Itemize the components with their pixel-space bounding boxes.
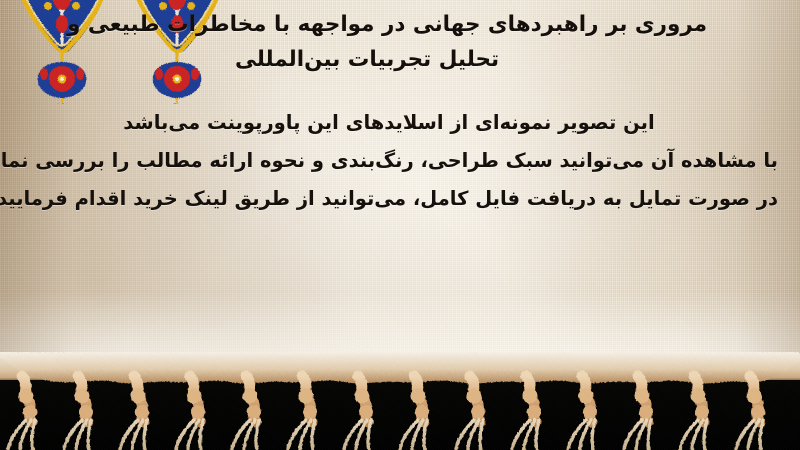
title-line-2: تحلیل تجربیات بین‌المللی	[0, 43, 734, 78]
fringe-tassel	[624, 376, 653, 450]
fringe-tassel	[232, 376, 261, 450]
fringe-tassel	[176, 376, 205, 450]
title-line-1: مروری بر راهبردهای جهانی در مواجهه با مخ…	[0, 8, 774, 43]
fringe-selvage-ridge	[0, 352, 800, 383]
fringe-tassel	[288, 376, 317, 450]
fringe-tassel	[8, 376, 37, 450]
fringe-tassel	[680, 376, 709, 450]
fringe-tassel	[736, 376, 765, 450]
fringe-tassel-group	[8, 376, 765, 450]
fringe-tassel	[400, 376, 429, 450]
slide-title: مروری بر راهبردهای جهانی در مواجهه با مخ…	[0, 8, 774, 78]
fringe-tassel	[512, 376, 541, 450]
fringe-tassel	[344, 376, 373, 450]
body-line-2: با مشاهده آن می‌توانید سبک طراحی، رنگ‌بن…	[0, 142, 778, 180]
body-line-1: این تصویر نمونه‌ای از اسلایدهای این پاور…	[0, 104, 778, 142]
slide-body: این تصویر نمونه‌ای از اسلایدهای این پاور…	[0, 104, 778, 219]
body-line-3: در صورت تمایل به دریافت فایل کامل، می‌تو…	[0, 180, 778, 218]
fringe-tassel	[568, 376, 597, 450]
fringe-tassel	[64, 376, 93, 450]
slide-canvas: مروری بر راهبردهای جهانی در مواجهه با مخ…	[0, 0, 800, 450]
fringe-tassel	[120, 376, 149, 450]
carpet-bottom-edge	[0, 352, 800, 450]
carpet-fringe-icon	[0, 352, 800, 450]
fringe-tassel	[456, 376, 485, 450]
